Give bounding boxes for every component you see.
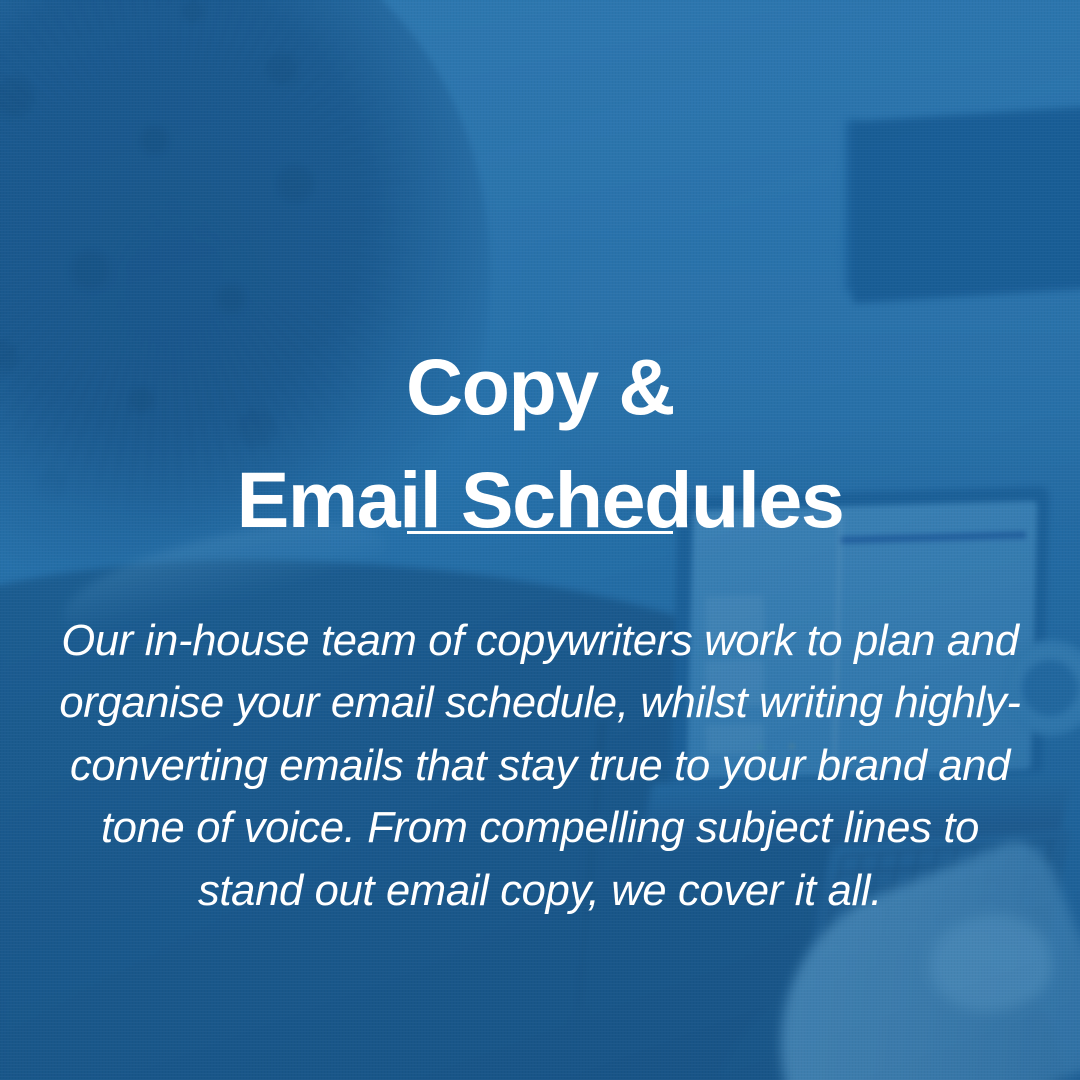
page-title: Copy & Email Schedules: [0, 331, 1080, 557]
headline-line-2: Email Schedules: [0, 444, 1080, 557]
promo-card: Copy & Email Schedules Our in-house team…: [0, 0, 1080, 1080]
headline-line-1: Copy &: [0, 331, 1080, 444]
card-content: Copy & Email Schedules Our in-house team…: [0, 0, 1080, 1080]
title-divider: [407, 531, 673, 534]
body-paragraph: Our in-house team of copywriters work to…: [44, 610, 1036, 923]
